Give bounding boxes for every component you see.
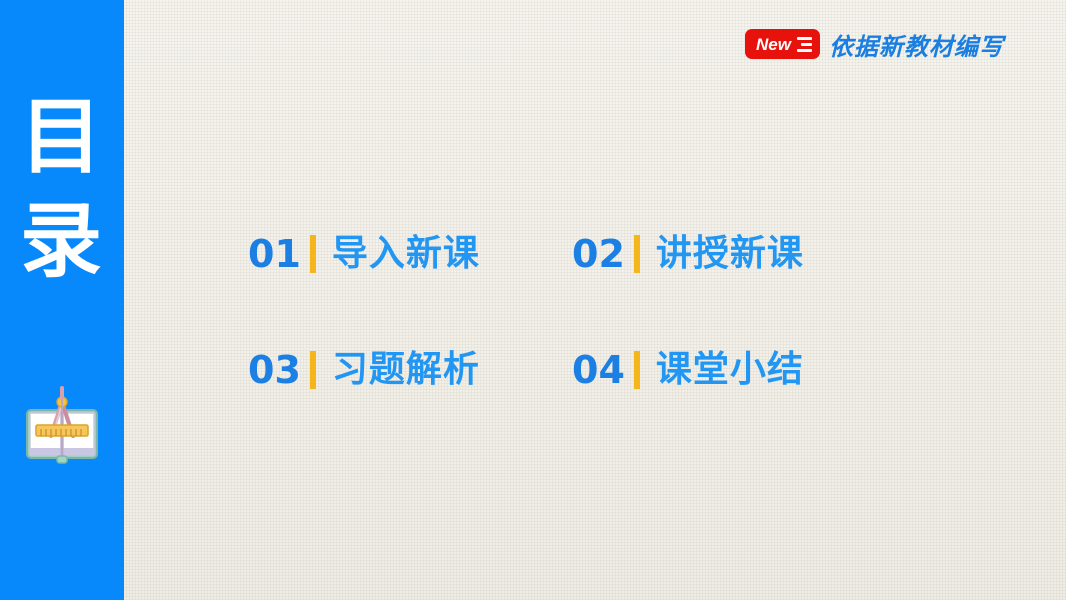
page-title-char-2: 录 <box>0 190 124 294</box>
agenda-divider <box>310 235 316 273</box>
page-title-char-1: 目 <box>0 86 124 190</box>
slide-canvas: 目 录 <box>0 0 1066 600</box>
sidebar: 目 录 <box>0 0 124 600</box>
agenda-number: 04 <box>572 351 625 389</box>
agenda-item-04[interactable]: 04 课堂小结 <box>572 312 848 428</box>
agenda-divider <box>634 351 640 389</box>
agenda-divider <box>634 235 640 273</box>
agenda-label: 导入新课 <box>332 236 480 272</box>
new-badge: New <box>745 29 820 59</box>
new-badge-label: New <box>756 36 791 53</box>
agenda-item-02[interactable]: 02 讲授新课 <box>572 196 848 312</box>
badge-caption: 依据新教材编写 <box>829 27 1004 62</box>
agenda-list: 01 导入新课 02 讲授新课 03 习题解析 04 课堂小结 <box>248 196 848 428</box>
agenda-label: 课堂小结 <box>656 352 804 388</box>
agenda-divider <box>310 351 316 389</box>
agenda-number: 02 <box>572 235 625 273</box>
agenda-item-03[interactable]: 03 习题解析 <box>248 312 572 428</box>
agenda-label: 习题解析 <box>332 352 480 388</box>
new-textbook-badge: New 依据新教材编写 <box>745 27 1004 61</box>
page-title: 目 录 <box>0 86 124 294</box>
speed-lines-icon <box>797 37 812 52</box>
agenda-number: 03 <box>248 351 301 389</box>
open-book-with-compass-and-ruler-icon <box>24 384 100 466</box>
agenda-item-01[interactable]: 01 导入新课 <box>248 196 572 312</box>
agenda-label: 讲授新课 <box>656 236 804 272</box>
agenda-number: 01 <box>248 235 301 273</box>
